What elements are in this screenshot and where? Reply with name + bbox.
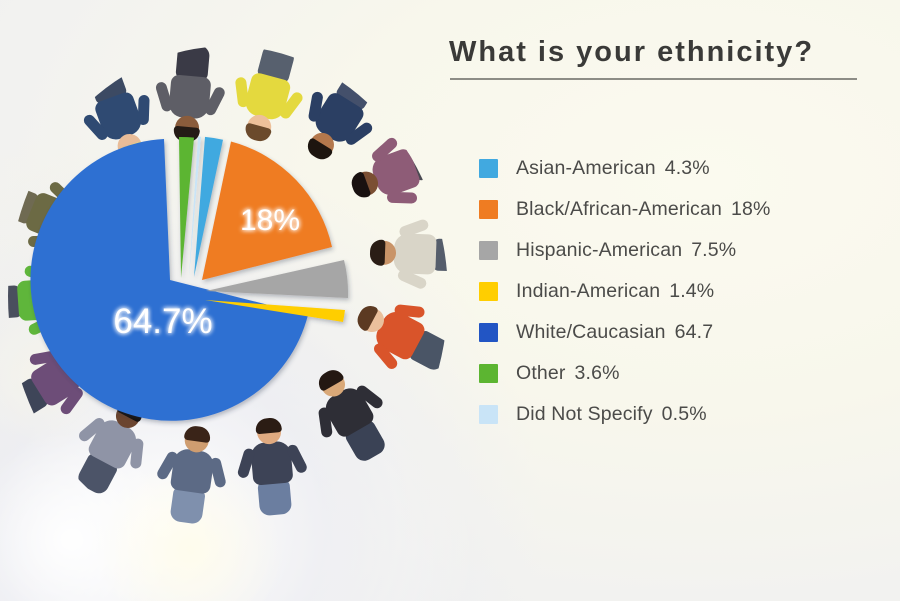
- legend-swatch-black-african-american: [479, 200, 498, 219]
- legend-swatch-white-caucasian: [479, 323, 498, 342]
- legend-swatch-hispanic-american: [479, 241, 498, 260]
- legend-value-indian-american: 1.4%: [669, 280, 714, 303]
- pie-label-black-african-american: 18%: [240, 204, 300, 237]
- legend-item-black-african-american[interactable]: Black/African-American 18%: [479, 189, 889, 230]
- person-figure: [369, 220, 448, 287]
- legend-label-hispanic-american: Hispanic-American: [516, 239, 682, 262]
- legend-label-did-not-specify: Did Not Specify: [516, 403, 653, 426]
- legend-value-asian-american: 4.3%: [665, 157, 710, 180]
- chart-legend: Asian-American 4.3% Black/African-Americ…: [479, 148, 889, 435]
- legend-label-indian-american: Indian-American: [516, 280, 660, 303]
- legend-label-asian-american: Asian-American: [516, 157, 656, 180]
- legend-label-black-african-american: Black/African-American: [516, 198, 722, 221]
- pie-chart: 18% 64.7%: [18, 130, 378, 450]
- pie-label-white-caucasian: 64.7%: [113, 302, 212, 341]
- legend-item-indian-american[interactable]: Indian-American 1.4%: [479, 271, 889, 312]
- legend-value-white-caucasian: 64.7: [675, 321, 714, 344]
- pie-chart-svg: 18% 64.7%: [18, 130, 378, 450]
- page-title: What is your ethnicity?: [449, 36, 879, 69]
- pie-slice-other[interactable]: [179, 137, 194, 278]
- legend-item-hispanic-american[interactable]: Hispanic-American 7.5%: [479, 230, 889, 271]
- legend-label-white-caucasian: White/Caucasian: [516, 321, 666, 344]
- legend-value-other: 3.6%: [575, 362, 620, 385]
- legend-swatch-asian-american: [479, 159, 498, 178]
- legend-swatch-other: [479, 364, 498, 383]
- legend-value-hispanic-american: 7.5%: [691, 239, 736, 262]
- legend-swatch-did-not-specify: [479, 405, 498, 424]
- legend-item-white-caucasian[interactable]: White/Caucasian 64.7: [479, 312, 889, 353]
- chart-slide: 18% 64.7% What is your ethnicity? Asian-…: [0, 0, 900, 601]
- legend-item-did-not-specify[interactable]: Did Not Specify 0.5%: [479, 394, 889, 435]
- legend-item-asian-american[interactable]: Asian-American 4.3%: [479, 148, 889, 189]
- legend-value-black-african-american: 18%: [731, 198, 770, 221]
- legend-label-other: Other: [516, 362, 566, 385]
- legend-swatch-indian-american: [479, 282, 498, 301]
- legend-value-did-not-specify: 0.5%: [662, 403, 707, 426]
- title-underline: [450, 78, 857, 80]
- legend-item-other[interactable]: Other 3.6%: [479, 353, 889, 394]
